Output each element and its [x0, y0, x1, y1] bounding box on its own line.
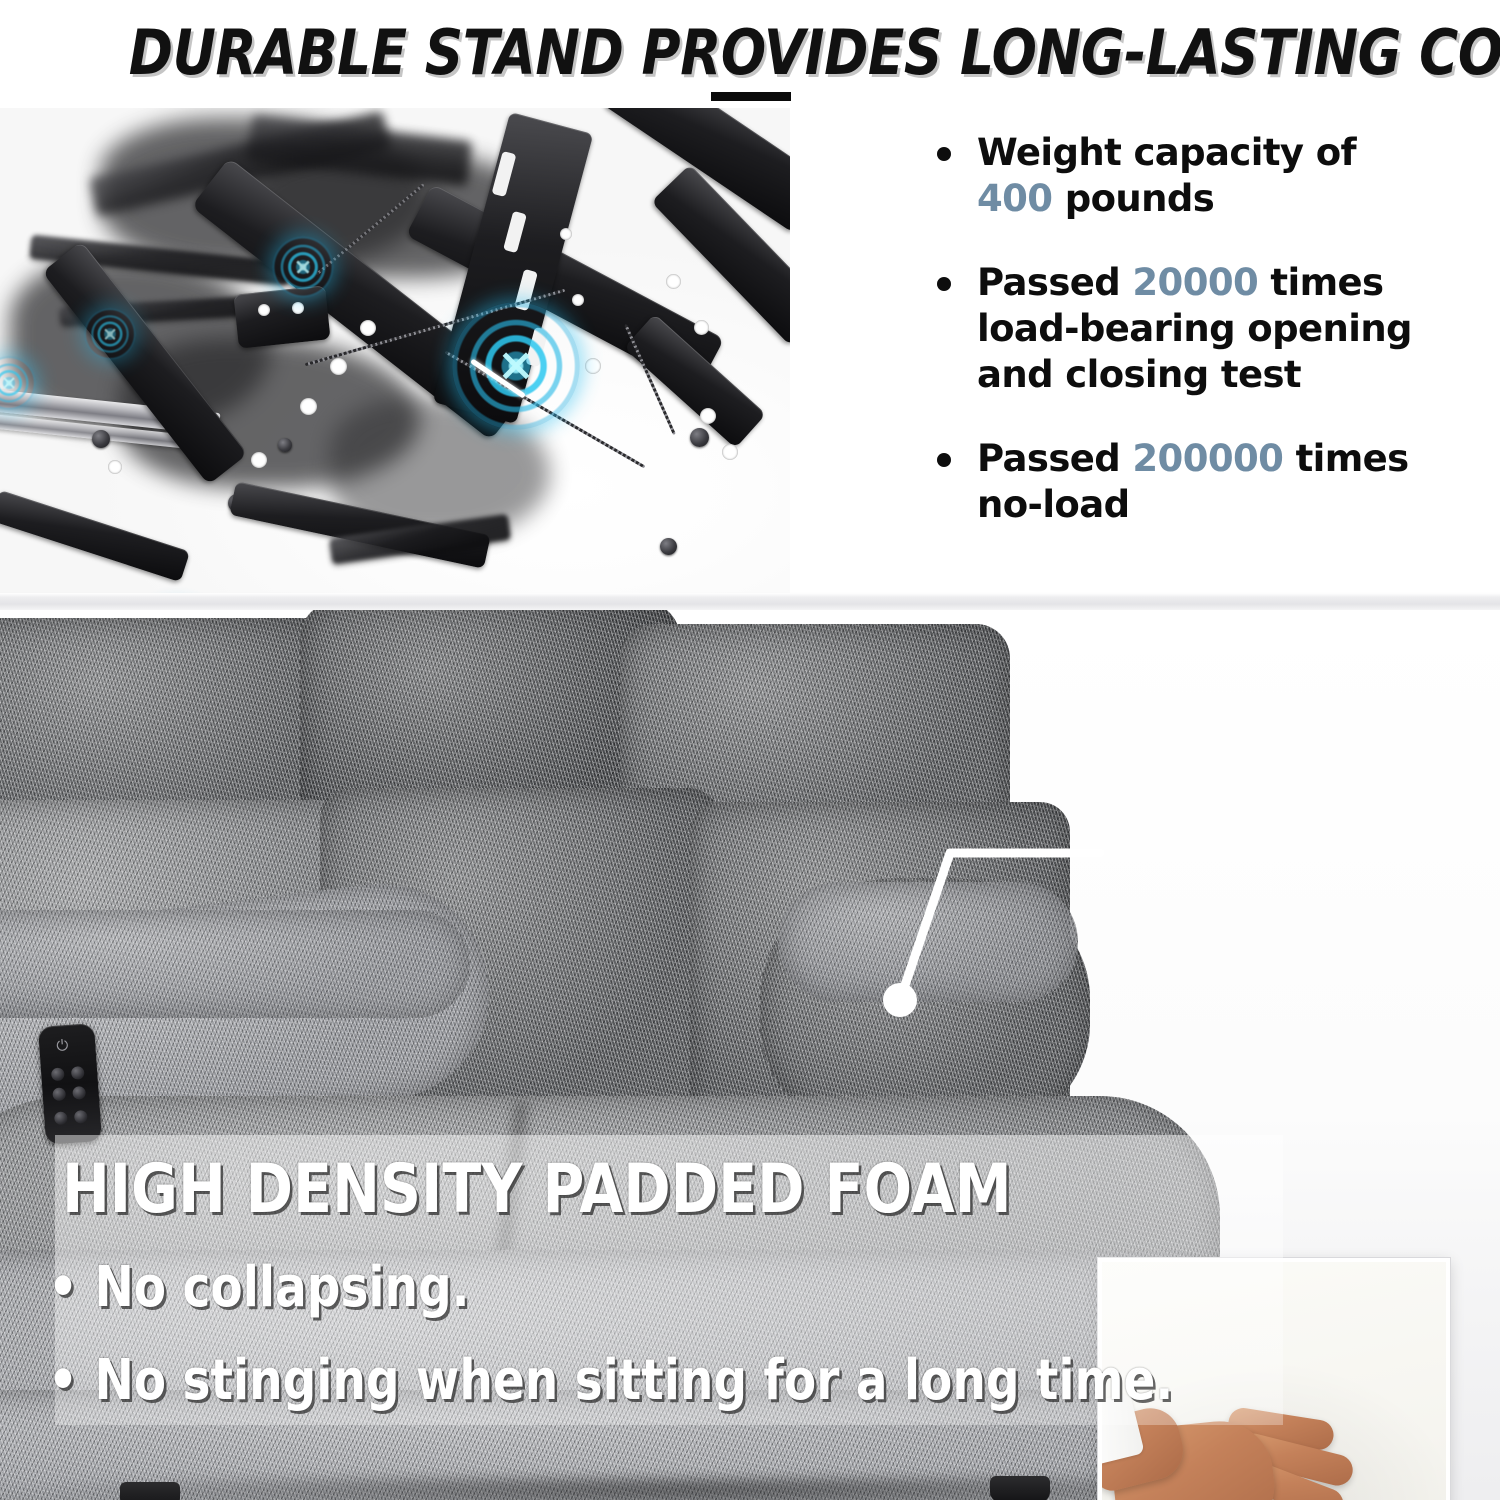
remote-button[interactable] [71, 1066, 85, 1080]
top-section: DURABLE STAND PROVIDES LONG-LASTING COMF… [0, 0, 1500, 600]
feature-bullet-list: Weight capacity of 400 pounds Passed 200… [925, 130, 1425, 566]
page-title-text: DURABLE STAND PROVIDES LONG-LASTING COMF… [129, 14, 1500, 92]
bullet-highlight-value: 20000 [1132, 261, 1258, 304]
bullet-highlight-value: 400 [977, 177, 1052, 220]
overlay-title: HIGH DENSITY PADDED FOAM [62, 1150, 1012, 1230]
chair-armrest-right-roll [778, 882, 1078, 1002]
remote-button[interactable] [72, 1086, 86, 1100]
list-item: Passed 20000 times load-bearing opening … [925, 260, 1425, 398]
page-title: DURABLE STAND PROVIDES LONG-LASTING COMF… [0, 14, 1500, 92]
remote-button[interactable] [51, 1067, 65, 1081]
remote-button[interactable] [52, 1087, 66, 1101]
overlay-bullet-1: • No collapsing. [48, 1255, 470, 1321]
chair-leg-right [990, 1476, 1050, 1500]
recliner-mechanism-photo [0, 108, 790, 595]
bullet-text-before: Weight capacity of [977, 131, 1356, 174]
infographic-root: DURABLE STAND PROVIDES LONG-LASTING COMF… [0, 0, 1500, 1500]
title-accent-rule [711, 92, 791, 101]
bullet-text-after: pounds [1052, 177, 1214, 220]
overlay-bullet-2: • No stinging when sitting for a long ti… [48, 1348, 1173, 1414]
chair-leg-left [120, 1482, 180, 1500]
bullet-dot-icon [937, 453, 951, 467]
bullet-text-before: Passed [977, 437, 1132, 480]
bullet-dot-icon [937, 147, 951, 161]
bullet-highlight-value: 200000 [1132, 437, 1283, 480]
power-icon: ⏻ [53, 1037, 72, 1056]
remote-button[interactable] [74, 1110, 88, 1124]
list-item: Weight capacity of 400 pounds [925, 130, 1425, 222]
remote-button[interactable] [54, 1111, 68, 1125]
bullet-dot-icon [937, 277, 951, 291]
list-item: Passed 200000 times no-load [925, 436, 1425, 528]
side-pocket-remote-control[interactable]: ⏻ [38, 1023, 102, 1145]
bullet-text-before: Passed [977, 261, 1132, 304]
chair-armrest-left-roll [0, 910, 470, 1018]
